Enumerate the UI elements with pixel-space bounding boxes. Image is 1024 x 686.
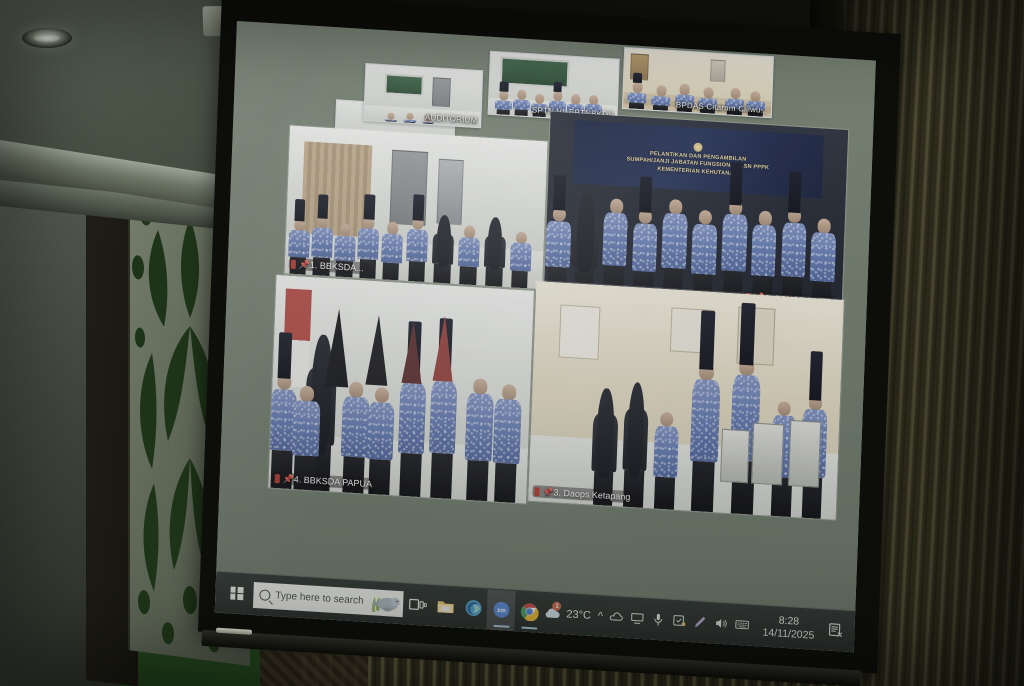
pin-icon: 📌	[299, 260, 307, 269]
chrome-active-indicator	[522, 626, 538, 629]
screen-hook	[216, 628, 252, 635]
recording-indicator-icon	[534, 487, 539, 496]
zoom-participant-tile[interactable]: 📌 3. Daops Ketapang	[527, 280, 845, 521]
task-view-button[interactable]	[402, 584, 432, 626]
task-view-icon	[407, 595, 427, 615]
search-icon	[259, 589, 270, 601]
start-button[interactable]	[221, 572, 252, 614]
pen-icon[interactable]	[693, 614, 709, 630]
chrome-icon	[520, 601, 540, 621]
recording-indicator-icon	[291, 259, 296, 268]
zoom-icon: zm	[492, 600, 512, 620]
keyboard-icon[interactable]	[735, 617, 751, 633]
zoom-gallery: ...WI_DIY	[216, 21, 876, 610]
zoom-app-button[interactable]: zm	[487, 589, 517, 631]
recording-indicator-icon	[275, 474, 280, 483]
svg-text:zm: zm	[497, 607, 506, 615]
zoom-participant-tile[interactable]: 📌 4. BBKSDA PAPUA	[267, 274, 535, 505]
zoom-thumbnail[interactable]: AUDITORIUM	[363, 63, 483, 128]
zoom-tile-name: 1. BBKSDA...	[310, 260, 364, 273]
screen-surface: ...WI_DIY	[215, 21, 876, 652]
windows-logo-icon	[230, 586, 243, 600]
volume-icon[interactable]	[714, 615, 730, 631]
search-input[interactable]: Type here to search	[253, 581, 404, 616]
folder-icon	[435, 596, 455, 616]
manatee-icon	[367, 590, 402, 616]
search-placeholder: Type here to search	[275, 590, 364, 606]
system-tray: ^	[598, 608, 750, 632]
network-icon[interactable]	[630, 610, 646, 626]
zoom-participant-tile[interactable]: 📌 1. BBKSDA...	[283, 124, 548, 290]
garuda-emblem-icon	[694, 142, 703, 152]
antivirus-icon[interactable]	[672, 613, 688, 629]
room-scene: ...WI_DIY	[0, 0, 1024, 686]
pin-icon: 📌	[283, 474, 291, 483]
onedrive-icon[interactable]	[609, 609, 625, 625]
edge-icon	[463, 598, 483, 618]
microsoft-edge-button[interactable]	[459, 587, 489, 629]
notifications-icon[interactable]	[827, 622, 845, 640]
pin-icon: 📌	[542, 487, 550, 496]
weather-widget[interactable]: 1 23°C	[543, 603, 591, 625]
downlight-icon	[22, 28, 72, 48]
zoom-meeting-window: ...WI_DIY	[215, 21, 876, 652]
show-hidden-icons-button[interactable]: ^	[598, 610, 604, 622]
zoom-active-indicator	[494, 624, 510, 627]
file-explorer-button[interactable]	[430, 585, 460, 627]
projector-screen: ...WI_DIY	[198, 0, 901, 674]
microphone-icon[interactable]	[651, 612, 667, 628]
google-chrome-button[interactable]	[515, 591, 545, 633]
taskbar-clock[interactable]: 8:28 14/11/2025	[756, 614, 821, 642]
weather-temperature: 23°C	[566, 608, 591, 622]
clock-date: 14/11/2025	[762, 626, 814, 641]
zoom-thumbnail[interactable]: BPDAS Citarum Ciliwu...	[622, 47, 774, 118]
